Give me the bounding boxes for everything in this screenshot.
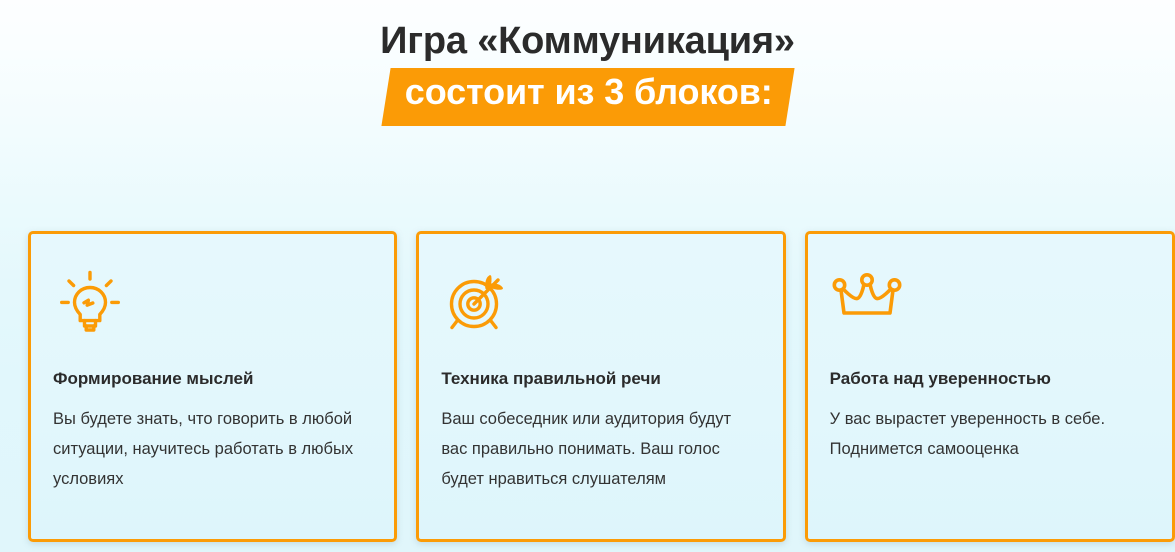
promo-section: Игра «Коммуникация» состоит из 3 блоков: [0,0,1175,552]
target-arrow-icon [441,264,760,342]
feature-card[interactable]: Формирование мыслей Вы будете знать, что… [28,231,397,542]
heading-line-2: состоит из 3 блоков: [404,72,772,112]
heading-highlight-banner: состоит из 3 блоков: [381,68,794,126]
feature-card-title: Формирование мыслей [53,368,372,390]
feature-card-text: Вы будете знать, что говорить в любой си… [53,404,371,494]
heading-highlight-wrapper: состоит из 3 блоков: [0,68,1175,120]
lightbulb-icon [53,264,372,342]
feature-card-title: Работа над уверенностью [830,368,1150,390]
section-heading: Игра «Коммуникация» состоит из 3 блоков: [0,18,1175,120]
heading-line-1: Игра «Коммуникация» [0,18,1175,64]
feature-card-title: Техника правильной речи [441,368,760,390]
crown-icon [830,264,1150,342]
feature-card-text: Ваш собеседник или аудитория будут вас п… [441,404,759,494]
feature-card-list: Формирование мыслей Вы будете знать, что… [28,231,1175,542]
feature-card[interactable]: Работа над уверенностью У вас вырастет у… [805,231,1175,542]
feature-card-text: У вас вырастет уверенность в себе. Подни… [830,404,1148,464]
feature-card[interactable]: Техника правильной речи Ваш собеседник и… [416,231,785,542]
